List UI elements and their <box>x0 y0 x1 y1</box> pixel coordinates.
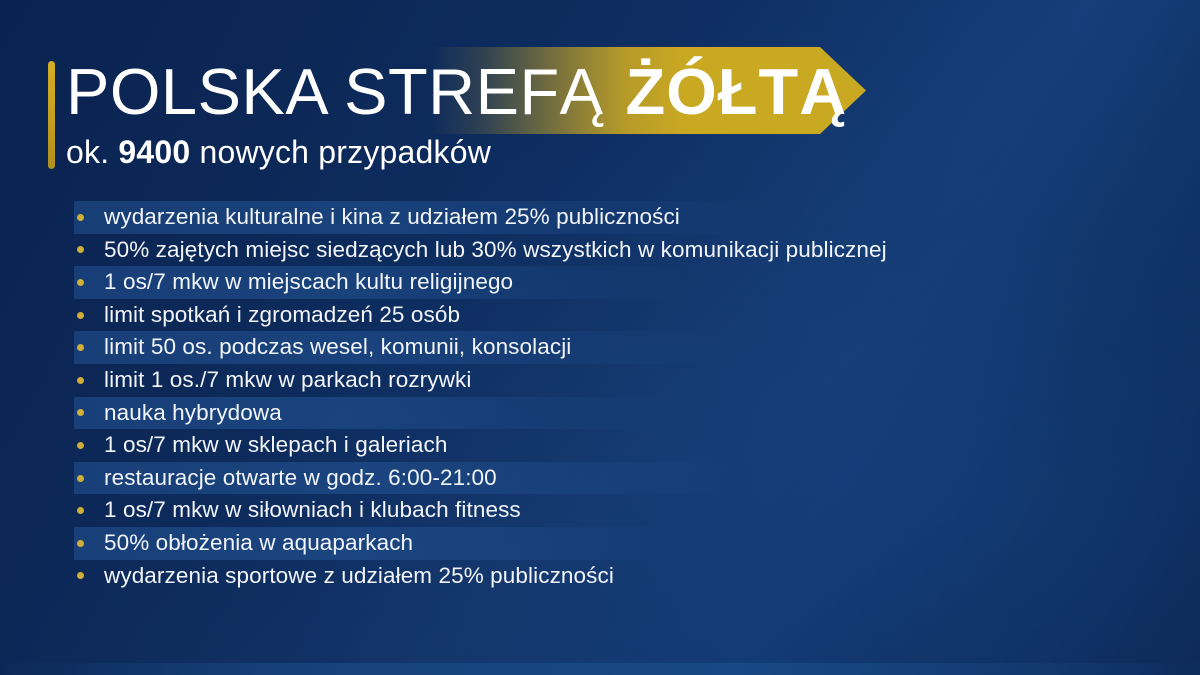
bullet-dot-icon <box>77 442 84 449</box>
list-item-label: limit 50 os. podczas wesel, komunii, kon… <box>104 336 571 359</box>
list-item: limit spotkań i zgromadzeń 25 osób <box>0 299 1200 332</box>
bullet-dot-icon <box>77 475 84 482</box>
restrictions-list: wydarzenia kulturalne i kina z udziałem … <box>0 201 1200 592</box>
list-item: wydarzenia sportowe z udziałem 25% publi… <box>0 560 1200 593</box>
subtitle: ok. 9400 nowych przypadków <box>66 133 491 171</box>
list-item: nauka hybrydowa <box>0 397 1200 430</box>
list-item-label: wydarzenia kulturalne i kina z udziałem … <box>104 206 680 229</box>
list-item-label: wydarzenia sportowe z udziałem 25% publi… <box>104 565 614 588</box>
list-item-label: limit 1 os./7 mkw w parkach rozrywki <box>104 369 471 392</box>
subtitle-case-count: 9400 <box>118 134 190 170</box>
list-item: limit 50 os. podczas wesel, komunii, kon… <box>0 331 1200 364</box>
list-item: restauracje otwarte w godz. 6:00-21:00 <box>0 462 1200 495</box>
gold-accent-bar <box>48 61 55 169</box>
list-item: 1 os/7 mkw w siłowniach i klubach fitnes… <box>0 494 1200 527</box>
infographic-slide: POLSKA STREFĄ ŻÓŁTĄ ok. 9400 nowych przy… <box>0 0 1200 675</box>
list-item-label: 1 os/7 mkw w sklepach i galeriach <box>104 434 447 457</box>
list-item: 1 os/7 mkw w miejscach kultu religijnego <box>0 266 1200 299</box>
list-item: 50% obłożenia w aquaparkach <box>0 527 1200 560</box>
list-item-label: restauracje otwarte w godz. 6:00-21:00 <box>104 467 497 490</box>
title-accent-text: ŻÓŁTĄ <box>626 59 848 124</box>
bullet-dot-icon <box>77 312 84 319</box>
list-item: limit 1 os./7 mkw w parkach rozrywki <box>0 364 1200 397</box>
list-item-label: 1 os/7 mkw w miejscach kultu religijnego <box>104 271 513 294</box>
list-item-label: 50% zajętych miejsc siedzących lub 30% w… <box>104 239 887 262</box>
list-item: 50% zajętych miejsc siedzących lub 30% w… <box>0 234 1200 267</box>
bullet-dot-icon <box>77 540 84 547</box>
bullet-dot-icon <box>77 409 84 416</box>
list-item-label: 50% obłożenia w aquaparkach <box>104 532 413 555</box>
subtitle-prefix: ok. <box>66 134 118 170</box>
list-item: 1 os/7 mkw w sklepach i galeriach <box>0 429 1200 462</box>
list-item-label: limit spotkań i zgromadzeń 25 osób <box>104 304 460 327</box>
list-item-label: 1 os/7 mkw w siłowniach i klubach fitnes… <box>104 499 521 522</box>
list-item: wydarzenia kulturalne i kina z udziałem … <box>0 201 1200 234</box>
bullet-dot-icon <box>77 246 84 253</box>
bullet-dot-icon <box>77 344 84 351</box>
list-item-label: nauka hybrydowa <box>104 402 282 425</box>
bullet-dot-icon <box>77 214 84 221</box>
bullet-dot-icon <box>77 572 84 579</box>
title-main-text: POLSKA STREFĄ <box>66 59 604 124</box>
bullet-dot-icon <box>77 377 84 384</box>
page-title: POLSKA STREFĄ ŻÓŁTĄ <box>66 46 847 136</box>
bullet-dot-icon <box>77 279 84 286</box>
subtitle-suffix: nowych przypadków <box>190 134 491 170</box>
header: POLSKA STREFĄ ŻÓŁTĄ ok. 9400 nowych przy… <box>0 0 1200 190</box>
bullet-dot-icon <box>77 507 84 514</box>
background-bottom-strip <box>0 663 1200 675</box>
